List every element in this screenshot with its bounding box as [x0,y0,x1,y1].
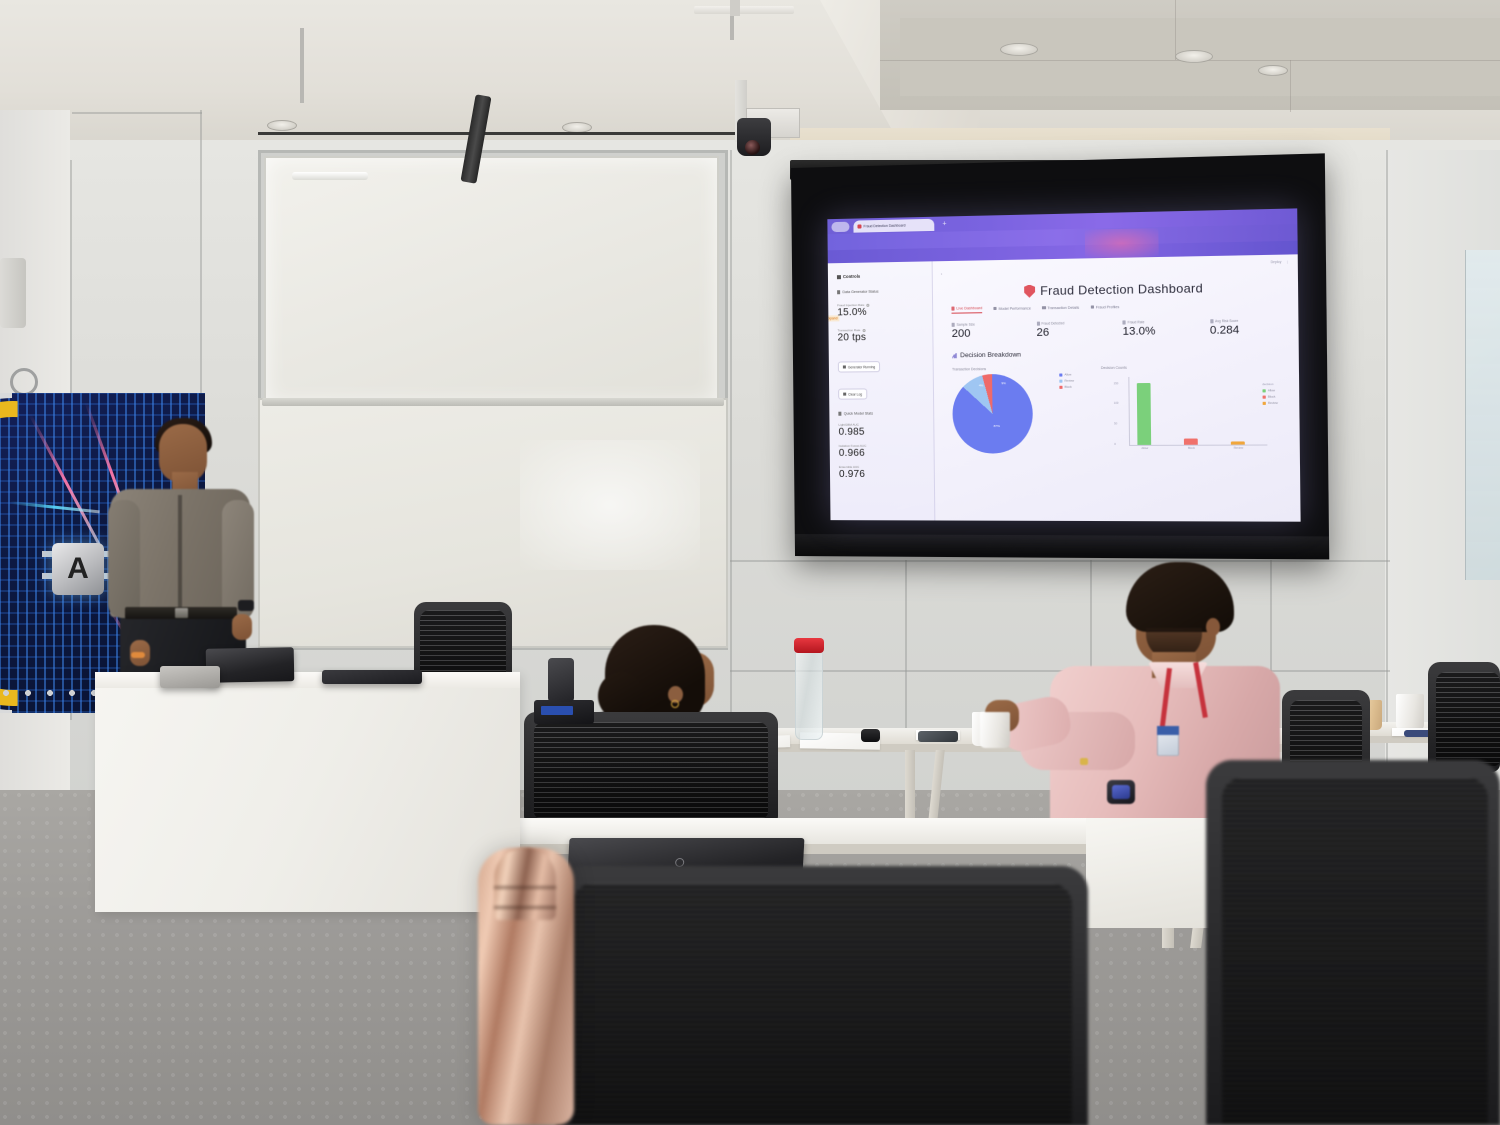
pie-label-review: 9% [1001,381,1006,385]
clear-log-button[interactable]: Clear Log [838,388,867,399]
thermos-ring [494,906,556,909]
id-badge-header [1157,726,1179,735]
whiteboard-rail [262,398,724,406]
play-icon [843,365,846,368]
sidebar-collapse-icon[interactable]: › [941,271,942,276]
sliders-icon [837,275,841,279]
downlight [1000,43,1038,56]
risk-icon [1210,320,1214,324]
legend-item: Allow [1059,372,1074,376]
coffee-cup-held [980,712,1010,748]
transaction-rate-value: 20 tps [838,331,933,343]
earring [671,700,679,708]
bottle-cap-red [794,638,824,653]
wall-ring-fixture [10,368,38,396]
gauge-icon [994,307,998,311]
presenter-wrist-band [131,652,145,658]
legend-swatch [1262,389,1265,392]
sidebar-annotation: Click to expand [827,315,839,321]
downlight [1258,65,1288,76]
ceiling-line [1290,60,1291,112]
thermos-cap [494,848,556,920]
x-label: Block [1180,447,1203,450]
thermos-ring [494,886,556,889]
streamlit-dashboard: Controls Data Generator Status Fraud Inj… [828,254,1301,521]
downlight [1175,50,1213,63]
y-tick: 100 [1114,402,1119,405]
transaction-decisions-pie [952,374,1033,454]
x-label: Review [1227,447,1251,450]
trash-icon [843,393,846,396]
chair-backrest-mesh [1222,778,1488,1125]
decision-breakdown-heading: Decision Breakdown [952,348,1299,359]
podium [95,672,520,912]
presenter-right-hand [232,614,252,640]
pie-chart-title: Transaction Decisions [952,367,1032,372]
legend-item: Block [1059,385,1074,389]
wall-panel-seam [730,560,1390,562]
tab-model-performance[interactable]: Model Performance [993,305,1030,313]
user-icon [1091,305,1095,309]
presenter-belt-buckle [175,608,188,618]
presenter-left-arm [108,500,140,618]
stat-value: 0.966 [839,448,934,459]
attendee-right-ear [1206,618,1220,636]
chart-icon [838,412,841,415]
deploy-button[interactable]: Deploy [1271,260,1282,264]
projector-rail [258,132,738,135]
legend-swatch [1059,379,1062,382]
metric-fraud-detected: Fraud Detected 26 [1036,320,1122,339]
ceiling-line [1175,0,1176,60]
chip-letter: A [67,552,89,586]
coffee-cup [1396,694,1424,730]
ceiling-rail [694,6,794,14]
y-tick: 0 [1114,443,1116,446]
pie-label-allow: 87% [994,424,1000,428]
downlight [267,120,297,131]
ceiling-hanger [300,28,304,103]
presenter-wristwatch [238,600,254,611]
browser-tab-active[interactable]: Fraud Detection Dashboard [853,219,934,233]
status-icon [837,290,840,293]
legend-swatch [1263,395,1266,398]
charts-row: Transaction Decisions 87% 9% 4% Allow Re… [952,364,1300,454]
whiteboard-glare [520,440,700,570]
pie-label-block: 4% [979,383,983,387]
cpu-chip-icon: A [52,543,104,595]
percent-icon [1122,321,1126,325]
wall-panel-seam [905,560,907,740]
metric-sample-size: Sample Size 200 [952,322,1037,340]
bag-on-desk [548,658,574,702]
legend-title: decision [1262,382,1277,386]
x-label: Allow [1133,447,1156,450]
sample-icon [952,323,955,326]
projector-glare [1085,228,1159,258]
metric-avg-risk-score: Avg Risk Score 0.284 [1210,318,1299,337]
smartwatch-face [1112,785,1130,799]
kebab-menu-icon[interactable]: ⋮ [1286,260,1289,264]
podium-top-surface [95,672,520,688]
conference-room-scene: A Fraud Detection Dashboard + [0,0,1500,1125]
desk-puck-device [861,729,880,742]
y-tick: 150 [1114,382,1119,385]
fraud-injection-value: 15.0% [837,306,932,318]
help-icon[interactable] [866,303,869,306]
laptop-base-podium[interactable] [160,666,220,688]
finger-ring [1080,758,1088,765]
legend-swatch [1059,385,1062,388]
dashboard-toolbar: Deploy ⋮ [1271,260,1290,265]
tab-fraud-profiles[interactable]: Fraud Profiles [1091,304,1120,312]
bar-chart-title: Decision Counts [1101,364,1293,370]
wall-panel-seam [200,110,202,410]
bar-legend: decision Allow Block Review [1262,382,1278,407]
legend-swatch [1263,401,1266,404]
tab-live-dashboard[interactable]: Live Dashboard [951,306,982,314]
tab-transaction-details[interactable]: Transaction Details [1042,305,1079,313]
list-icon [1042,306,1046,310]
quick-stats-heading: Quick Model Stats [838,411,933,416]
projected-browser-window: Fraud Detection Dashboard + localhost:85… [827,208,1300,521]
bar-review [1231,442,1245,445]
decision-counts-bars: 0 50 100 150 Allow Block Review [1101,371,1293,453]
pie-legend: Allow Review Block [1059,372,1074,391]
av-control-display [541,706,573,715]
generator-status-label: Data Generator Status [837,289,932,295]
pie-chart-block: Transaction Decisions 87% 9% 4% Allow Re… [952,367,1033,454]
presenter-shirt-placket [178,495,182,613]
laptop-secondary[interactable] [322,670,422,684]
water-bottle-glass [795,640,823,740]
wall-panel-seam [1386,150,1388,800]
legend-item: Block [1263,394,1278,398]
legend-swatch [1059,373,1062,376]
wall-speaker [0,258,26,328]
dashboard-title: Fraud Detection Dashboard [933,279,1298,299]
table-leg [905,750,915,822]
generator-running-button[interactable]: Generator Running [838,361,880,372]
chair-backrest-mesh [1436,672,1500,766]
wall-panel-seam [72,112,202,114]
stat-value: 0.985 [839,426,934,438]
tab-favicon [857,224,861,228]
metrics-row: Sample Size 200 Fraud Detected 26 Fraud … [952,318,1299,340]
shield-icon [1024,284,1036,297]
smartphone [918,731,958,742]
new-tab-button[interactable]: + [940,220,948,228]
glass-partition [1465,250,1500,580]
dashboard-sidebar: Controls Data Generator Status Fraud Inj… [828,261,936,520]
chair-backrest-mesh [534,722,768,818]
browser-tab-title: Fraud Detection Dashboard [863,223,905,228]
dashboard-main: Deploy ⋮ › Fraud Detection Dashboard Liv… [933,254,1301,521]
dashboard-icon [951,307,954,310]
wall-panel-seam [730,150,732,770]
legend-item: Review [1263,401,1278,405]
stat-value: 0.976 [839,469,934,480]
bar-chart-icon [952,353,957,358]
bar-allow [1137,383,1151,445]
y-axis [1128,377,1130,445]
dashboard-tabs: Live Dashboard Model Performance Transac… [951,301,1298,313]
whiteboard-light-tube [292,172,368,180]
y-tick: 50 [1114,422,1117,425]
legend-item: Allow [1262,388,1277,392]
chair-backrest-mesh [572,884,1072,1125]
projection-screen: Fraud Detection Dashboard + localhost:85… [791,153,1329,559]
screen-bottom-bar [795,534,1329,559]
metric-fraud-rate: Fraud Rate 13.0% [1122,319,1210,338]
camera-lens-icon [745,140,760,155]
bar-chart-block: Decision Counts 0 50 100 150 [1101,364,1293,453]
alert-icon [1036,322,1040,326]
ceiling-bracket [730,0,740,16]
sidebar-heading: Controls [837,272,932,279]
tab-group-pill[interactable] [831,222,849,232]
bar-block [1184,438,1198,444]
whiteboard-upper-panel [264,156,719,406]
legend-item: Review [1059,379,1074,383]
